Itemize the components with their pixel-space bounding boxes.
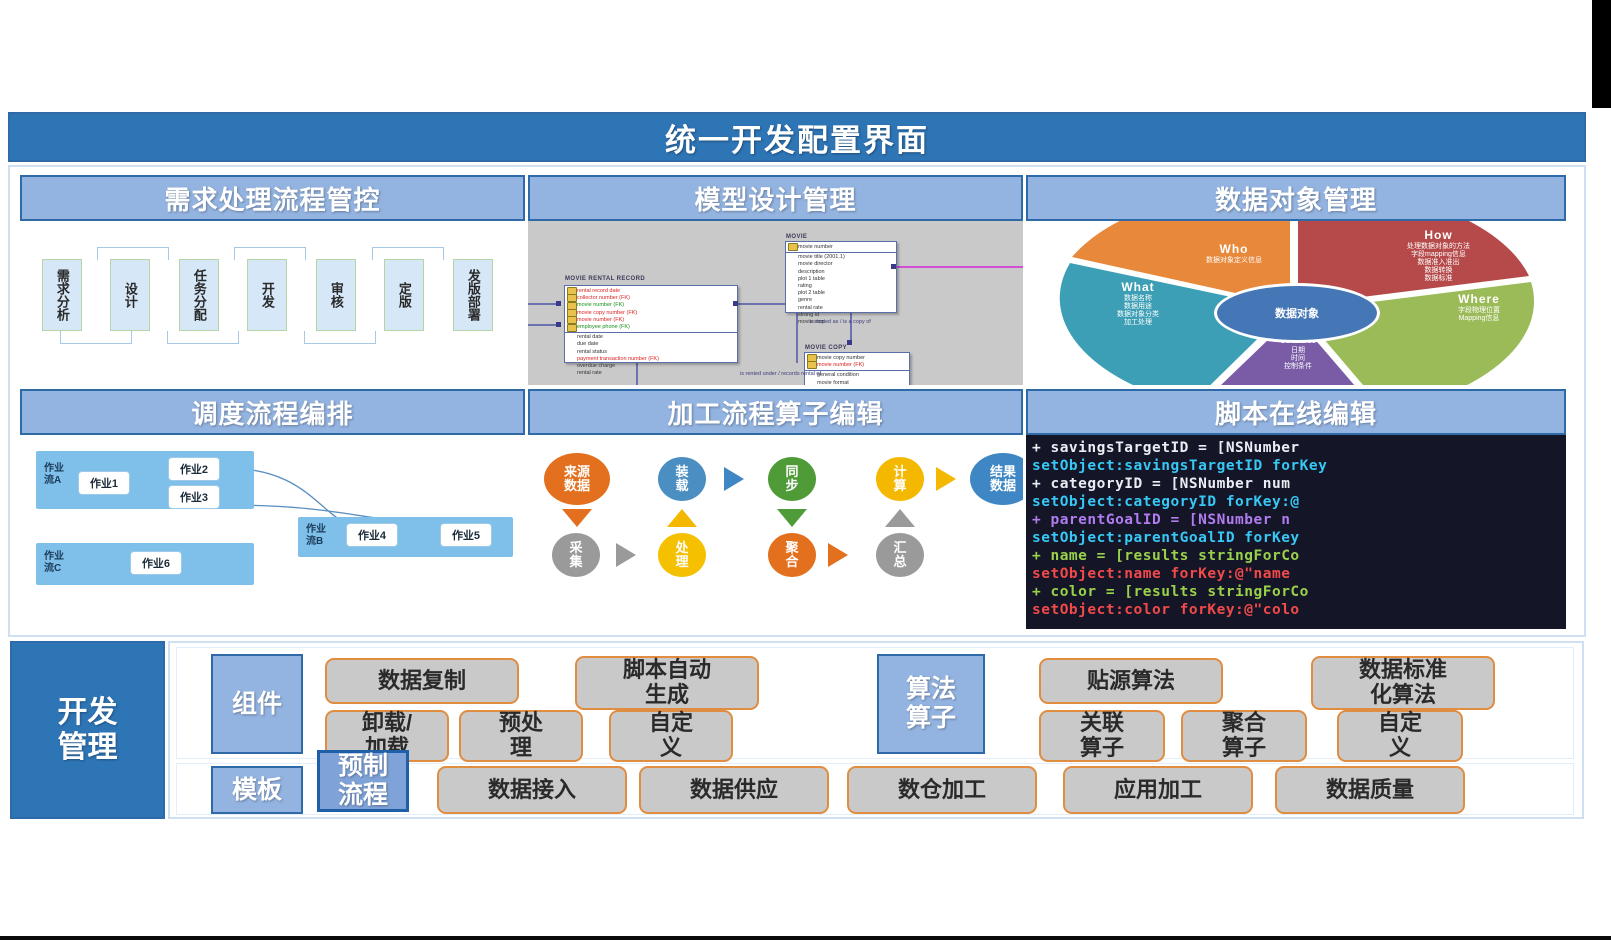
- er-key-field: employee phone (FK): [565, 324, 737, 331]
- panel-header-data-object: 数据对象管理: [1026, 175, 1566, 221]
- template-pill-label: 数据供应: [690, 778, 778, 803]
- panel-title-scheduling: 调度流程编排: [191, 394, 353, 431]
- flow-step-box[interactable]: 开发: [247, 259, 287, 331]
- er-key-field: movie number: [786, 244, 896, 251]
- operator-label-line: 数据: [564, 479, 590, 493]
- bottom-edge-bar: [0, 936, 1611, 940]
- job-flow-group-b-label: 作业流B: [306, 524, 326, 547]
- template-pill-data-ingest[interactable]: 数据接入: [437, 766, 627, 814]
- dev-management-content: 组件 数据复制 脚本自动生成 卸载/加载 预处理 自定义 算法: [168, 641, 1584, 819]
- job-node[interactable]: 作业5: [440, 523, 492, 547]
- category-preset-flow[interactable]: 预制流程: [317, 750, 409, 812]
- operator-label-line: 聚: [785, 541, 798, 555]
- category-template-label: 模板: [232, 776, 282, 805]
- job-node[interactable]: 作业3: [168, 485, 220, 509]
- er-field: due date: [565, 341, 737, 348]
- panel-requirement-process[interactable]: 需求处理流程管控 需求分析 设计 任务分配: [20, 175, 525, 385]
- er-field: payment transaction number (FK): [565, 356, 737, 363]
- er-connector-dot: [733, 301, 738, 306]
- er-field: rental status: [565, 349, 737, 356]
- operator-arrow-right-orange: [828, 543, 848, 567]
- flow-step-label: 任务分配: [192, 269, 206, 321]
- code-line: + color = [results stringForCo: [1032, 583, 1566, 601]
- component-pill-label: 预处理: [499, 711, 543, 760]
- template-pill-application-processing[interactable]: 应用加工: [1063, 766, 1253, 814]
- algo-pill-custom[interactable]: 自定义: [1337, 710, 1463, 762]
- panel-scheduling[interactable]: 调度流程编排 作业流A 作业1 作业2 作业3: [20, 389, 525, 629]
- er-key-field: rental record date: [565, 288, 737, 295]
- operator-node-compute[interactable]: 计 算: [876, 457, 924, 501]
- app-title-bar: 统一开发配置界面: [8, 112, 1586, 162]
- operator-label-line: 计: [893, 465, 906, 479]
- operator-arrow-up-yellow: [667, 509, 697, 527]
- job-node-label: 作业5: [452, 527, 480, 543]
- code-line: + savingsTargetID = [NSNumber: [1032, 439, 1566, 457]
- operator-label-line: 数据: [990, 479, 1016, 493]
- operator-label-line: 来源: [564, 465, 590, 479]
- operator-label-line: 集: [569, 555, 582, 569]
- flow-step-box[interactable]: 定版: [384, 259, 424, 331]
- component-pill-custom[interactable]: 自定义: [609, 710, 733, 762]
- wheel-center-node[interactable]: 数据对象: [1214, 283, 1380, 343]
- algo-pill-join-operator[interactable]: 关联算子: [1039, 710, 1165, 762]
- er-connector-dot: [556, 301, 561, 306]
- operator-arrow-up-gray: [885, 509, 915, 527]
- category-template[interactable]: 模板: [211, 766, 303, 814]
- panel-data-object[interactable]: 数据对象管理: [1026, 175, 1566, 385]
- er-field: movie format: [805, 380, 909, 385]
- algo-pill-source-algorithm[interactable]: 贴源算法: [1039, 658, 1223, 704]
- operator-label-line: 合: [785, 555, 798, 569]
- er-relation-line: [528, 303, 558, 305]
- operator-label-line: 同: [785, 465, 798, 479]
- er-field: movie title (2001.1): [786, 254, 896, 261]
- er-relation-label: is rented under / records rental of: [740, 371, 821, 378]
- code-line: + categoryID = [NSNumber num: [1032, 475, 1566, 493]
- er-relation-line: [893, 266, 1023, 268]
- template-pill-label: 应用加工: [1114, 778, 1202, 803]
- panel-body-script: + savingsTargetID = [NSNumber setObject:…: [1026, 435, 1566, 629]
- job-flow-group-c-label: 作业流C: [44, 551, 64, 574]
- algo-pill-label: 贴源算法: [1087, 669, 1175, 694]
- component-pill-label: 自定义: [649, 711, 693, 760]
- operator-node-aggregate[interactable]: 聚 合: [768, 533, 816, 577]
- operator-label-line: 结果: [990, 465, 1016, 479]
- er-key-field: movie number (FK): [805, 362, 909, 369]
- er-divider: [565, 332, 737, 333]
- algo-pill-label: 数据标准化算法: [1359, 658, 1447, 707]
- flow-connector-down-1: [60, 331, 132, 344]
- job-node-label: 作业4: [358, 527, 386, 543]
- code-line: + name = [results stringForCo: [1032, 547, 1566, 565]
- flow-step-label: 开发: [260, 282, 274, 308]
- dev-row-templates: 模板 预制流程 数据接入 数据供应 数仓加工 应用加工 数据质量: [176, 763, 1574, 815]
- category-algorithm-label: 算法算子: [906, 675, 956, 733]
- panel-script-editor[interactable]: 脚本在线编辑 + savingsTargetID = [NSNumber set…: [1026, 389, 1566, 629]
- category-components-label: 组件: [232, 690, 282, 719]
- er-field: genre: [786, 297, 896, 304]
- component-pill-label: 数据复制: [378, 669, 466, 694]
- data-object-wheel-chart[interactable]: Who 数据对象定义信息 How 处理数据对象的方法 字段mapping信息 数…: [1026, 221, 1566, 385]
- category-components[interactable]: 组件: [211, 654, 303, 754]
- flow-step-box[interactable]: 审核: [316, 259, 356, 331]
- job-node[interactable]: 作业1: [78, 471, 130, 495]
- job-node[interactable]: 作业6: [130, 551, 182, 575]
- operator-arrow-down-orange: [562, 509, 592, 527]
- er-entity-title: MOVIE COPY: [805, 345, 847, 351]
- dev-management-label-text: 开发管理: [58, 695, 118, 766]
- algo-pill-label: 自定义: [1378, 711, 1422, 760]
- er-key-field: movie copy number: [805, 355, 909, 362]
- algo-pill-standardization[interactable]: 数据标准化算法: [1311, 656, 1495, 710]
- panel-body-data-object: Who 数据对象定义信息 How 处理数据对象的方法 字段mapping信息 数…: [1026, 221, 1566, 385]
- dev-management-section: 开发管理 组件 数据复制 脚本自动生成 卸载/加载 预处理: [8, 641, 1586, 819]
- template-pill-label: 数仓加工: [898, 778, 986, 803]
- operator-node-source-data[interactable]: 来源 数据: [544, 453, 610, 505]
- operator-label-line: 处: [675, 541, 688, 555]
- er-connector-dot: [556, 322, 561, 327]
- panel-body-operator: 来源 数据 装 载 同 步 计 算 结果: [528, 435, 1023, 629]
- job-node-label: 作业1: [90, 475, 118, 491]
- code-editor-surface[interactable]: + savingsTargetID = [NSNumber setObject:…: [1026, 435, 1566, 629]
- er-entity-card[interactable]: movie number movie title (2001.1) movie …: [785, 241, 897, 313]
- panel-operator-editing[interactable]: 加工流程算子编辑 来源 数据 装 载 同 步 计: [528, 389, 1023, 629]
- operator-node-result-data[interactable]: 结果 数据: [970, 453, 1023, 505]
- job-node-label: 作业2: [180, 461, 208, 477]
- operator-node-process[interactable]: 处 理: [658, 533, 706, 577]
- er-field: rental rate: [786, 305, 896, 312]
- er-divider: [786, 252, 896, 253]
- code-line: setObject:categoryID forKey:@: [1032, 493, 1566, 511]
- template-pill-data-quality[interactable]: 数据质量: [1275, 766, 1465, 814]
- er-entity-title: MOVIE: [786, 234, 807, 240]
- code-line: setObject:name forKey:@"name: [1032, 565, 1566, 583]
- job-flow-group-a-label: 作业流A: [44, 463, 64, 486]
- er-key-field: movie number (FK): [565, 317, 737, 324]
- operator-arrow-down-green: [777, 509, 807, 527]
- app-title: 统一开发配置界面: [665, 115, 929, 160]
- flow-step-label: 设计: [123, 282, 137, 308]
- operator-label-line: 装: [675, 465, 688, 479]
- er-key-field: movie copy number (FK): [565, 310, 737, 317]
- operator-label-line: 汇: [893, 541, 906, 555]
- category-preset-flow-label: 预制流程: [338, 752, 388, 810]
- flow-step-label: 定版: [397, 282, 411, 308]
- flow-step-box[interactable]: 设计: [110, 259, 150, 331]
- category-algorithm-operators[interactable]: 算法算子: [877, 654, 985, 754]
- er-entity-card[interactable]: movie copy number movie number (FK) gene…: [804, 352, 910, 385]
- panel-header-scheduling: 调度流程编排: [20, 389, 525, 435]
- dev-row-components: 组件 数据复制 脚本自动生成 卸载/加载 预处理 自定义 算法: [176, 647, 1574, 759]
- er-relation-line: [528, 324, 558, 326]
- code-line: setObject:savingsTargetID forKey: [1032, 457, 1566, 475]
- wheel-center-label: 数据对象: [1275, 305, 1319, 321]
- operator-node-collect[interactable]: 采 集: [552, 533, 600, 577]
- panel-header-requirement: 需求处理流程管控: [20, 175, 525, 221]
- template-pill-label: 数据接入: [488, 778, 576, 803]
- er-connector-dot: [847, 340, 852, 345]
- er-field: rental rate: [565, 370, 737, 377]
- operator-label-line: 步: [785, 479, 798, 493]
- operator-label-line: 总: [893, 555, 906, 569]
- code-line: + parentGoalID = [NSNumber n: [1032, 511, 1566, 529]
- er-entity-title: MOVIE RENTAL RECORD: [565, 276, 645, 282]
- er-field: plot 1 table: [786, 276, 896, 283]
- panel-model-design[interactable]: 模型设计管理 MOVIE RENTAL RECORD rental record: [528, 175, 1023, 385]
- er-key-field: movie number (FK): [565, 302, 737, 309]
- er-field: description: [786, 269, 896, 276]
- operator-label-line: 载: [675, 479, 688, 493]
- dev-management-label: 开发管理: [10, 641, 165, 819]
- requirement-flow-diagram: 需求分析 设计 任务分配 开发 审核 定版 发版部署: [42, 241, 482, 351]
- job-flow-group-a[interactable]: 作业流A: [36, 451, 254, 509]
- flow-step-box[interactable]: 需求分析: [42, 259, 82, 331]
- operator-arrow-right-yellow: [936, 467, 956, 491]
- flow-step-box[interactable]: 任务分配: [179, 259, 219, 331]
- component-pill-preprocess[interactable]: 预处理: [459, 710, 583, 762]
- operator-node-summarize[interactable]: 汇 总: [876, 533, 924, 577]
- operator-node-load[interactable]: 装 载: [658, 457, 706, 501]
- job-node[interactable]: 作业4: [346, 523, 398, 547]
- panel-title-model: 模型设计管理: [694, 180, 856, 217]
- flow-connector-down-3: [304, 331, 376, 344]
- operator-node-sync[interactable]: 同 步: [768, 457, 816, 501]
- panel-body-scheduling: 作业流A 作业1 作业2 作业3 作业流B 作业4 作业5 作业流C: [20, 435, 525, 629]
- algo-pill-label: 聚合算子: [1222, 711, 1266, 760]
- component-pill-label: 脚本自动生成: [623, 658, 711, 707]
- code-line: setObject:color forKey:@"colo: [1032, 601, 1566, 619]
- upper-panels-container: 需求处理流程管控 需求分析 设计 任务分配: [8, 165, 1586, 637]
- right-edge-bar: [1592, 0, 1611, 108]
- panel-body-model: MOVIE RENTAL RECORD rental record date c…: [528, 221, 1023, 385]
- er-field: plot 2 table: [786, 290, 896, 297]
- operator-label-line: 采: [569, 541, 582, 555]
- operator-arrow-right-blue: [724, 467, 744, 491]
- panel-title-requirement: 需求处理流程管控: [164, 180, 380, 217]
- component-pill-data-replication[interactable]: 数据复制: [325, 658, 519, 704]
- er-field: strong id: [786, 312, 896, 319]
- panel-title-operator: 加工流程算子编辑: [667, 394, 883, 431]
- panel-header-script: 脚本在线编辑: [1026, 389, 1566, 435]
- er-key-field: collector number (FK): [565, 295, 737, 302]
- code-line: setObject:parentGoalID forKey: [1032, 529, 1566, 547]
- er-relation-label: is rented as / is a copy of: [810, 319, 871, 326]
- job-node[interactable]: 作业2: [168, 457, 220, 481]
- er-field: overdue charge: [565, 363, 737, 370]
- template-pill-warehouse-processing[interactable]: 数仓加工: [847, 766, 1037, 814]
- algo-pill-label: 关联算子: [1080, 711, 1124, 760]
- er-field: rental date: [565, 334, 737, 341]
- algo-pill-aggregate-operator[interactable]: 聚合算子: [1181, 710, 1307, 762]
- er-field: movie director: [786, 261, 896, 268]
- unified-dev-config-app: 统一开发配置界面 需求处理流程管控 需求分析 设计: [8, 112, 1586, 819]
- panel-header-model: 模型设计管理: [528, 175, 1023, 221]
- flow-step-label: 需求分析: [55, 269, 69, 321]
- er-diagram-canvas[interactable]: MOVIE RENTAL RECORD rental record date c…: [528, 221, 1023, 385]
- template-pill-label: 数据质量: [1326, 778, 1414, 803]
- flow-step-label: 审核: [329, 282, 343, 308]
- job-node-label: 作业6: [142, 555, 170, 571]
- template-pill-data-supply[interactable]: 数据供应: [639, 766, 829, 814]
- flow-step-label: 发版部署: [466, 269, 480, 321]
- er-entity-card[interactable]: rental record date collector number (FK)…: [564, 285, 738, 363]
- flow-connector-down-2: [167, 331, 239, 344]
- panel-header-operator: 加工流程算子编辑: [528, 389, 1023, 435]
- flow-step-box[interactable]: 发版部署: [453, 259, 493, 331]
- panel-title-data-object: 数据对象管理: [1215, 180, 1377, 217]
- operator-label-line: 理: [675, 555, 688, 569]
- panel-title-script: 脚本在线编辑: [1215, 394, 1377, 431]
- panel-body-requirement: 需求分析 设计 任务分配 开发 审核 定版 发版部署: [20, 221, 525, 385]
- job-node-label: 作业3: [180, 489, 208, 505]
- er-field: rating: [786, 283, 896, 290]
- er-connector-dot: [891, 264, 896, 269]
- component-pill-script-autogen[interactable]: 脚本自动生成: [575, 656, 759, 710]
- operator-label-line: 算: [893, 479, 906, 493]
- operator-arrow-right-gray: [616, 543, 636, 567]
